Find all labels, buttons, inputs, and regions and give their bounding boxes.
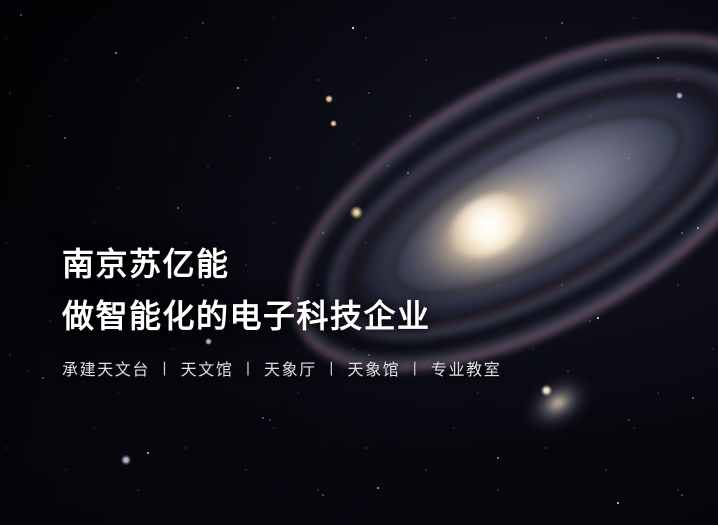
subtitle-item-2: 天象厅 [264,356,317,380]
hero-text-overlay: 南京苏亿能 做智能化的电子科技企业 承建天文台 丨 天文馆 丨 天象厅 丨 天象… [62,248,532,380]
subtitle-item-4: 专业教室 [431,356,501,380]
subtitle-separator-0: 丨 [150,358,181,379]
hero-headline-line-2: 做智能化的电子科技企业 [62,300,532,332]
subtitle-item-1: 天文馆 [181,356,234,380]
subtitle-item-0: 承建天文台 [62,356,150,380]
hero-banner: 南京苏亿能 做智能化的电子科技企业 承建天文台 丨 天文馆 丨 天象厅 丨 天象… [0,0,718,525]
subtitle-separator-2: 丨 [317,358,348,379]
subtitle-separator-1: 丨 [233,358,264,379]
hero-headline-line-1: 南京苏亿能 [62,248,532,280]
subtitle-item-3: 天象馆 [347,356,400,380]
hero-subtitle: 承建天文台 丨 天文馆 丨 天象厅 丨 天象馆 丨 专业教室 [62,356,532,380]
subtitle-separator-3: 丨 [400,358,431,379]
